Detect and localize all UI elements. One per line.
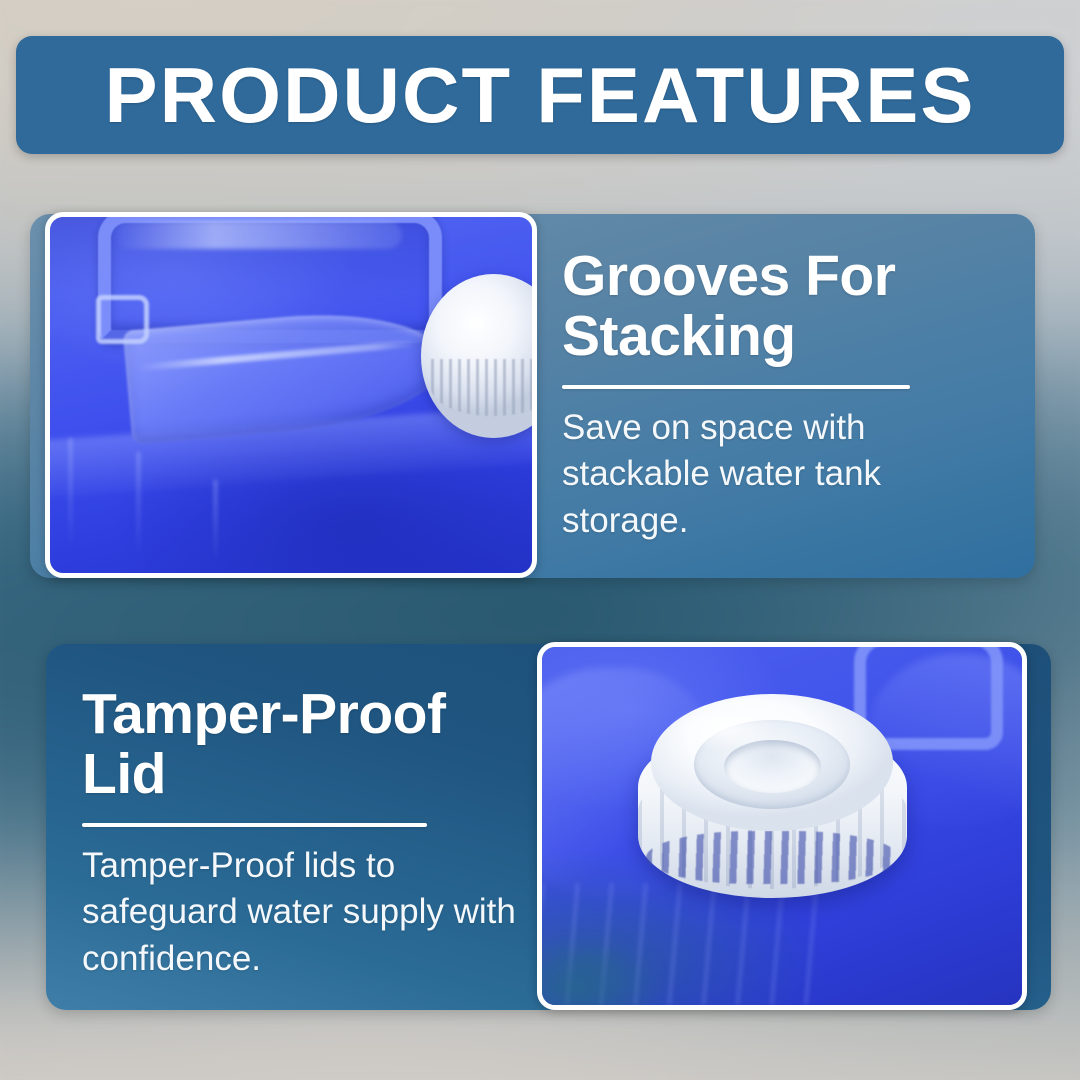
- feature-text-block-1: Grooves For Stacking Save on space with …: [562, 246, 1002, 544]
- feature-image-2-inner: [542, 647, 1022, 1005]
- tank-ridge-3: [214, 480, 217, 558]
- tank-teal-reflection: [542, 905, 724, 1005]
- cap-highlight: [670, 707, 778, 751]
- feature-title-2: Tamper-Proof Lid: [82, 684, 522, 805]
- tank-ridge-1: [69, 438, 72, 545]
- feature-title-1: Grooves For Stacking: [562, 246, 1002, 367]
- tamper-evident-ring: [646, 831, 899, 884]
- tank-tab: [96, 295, 149, 344]
- tank-ridge-2: [137, 452, 140, 552]
- feature-image-tamper-proof-lid: [537, 642, 1027, 1010]
- feature-description-2: Tamper-Proof lids to safeguard water sup…: [82, 843, 522, 983]
- page-title: PRODUCT FEATURES: [105, 56, 976, 134]
- header-banner: PRODUCT FEATURES: [16, 36, 1064, 154]
- feature-image-grooves-for-stacking: [45, 212, 537, 578]
- water-tank-handle-illustration: [50, 217, 532, 573]
- tamper-proof-cap: [638, 694, 907, 916]
- feature-text-block-2: Tamper-Proof Lid Tamper-Proof lids to sa…: [82, 684, 522, 982]
- tamper-proof-cap-illustration: [542, 647, 1022, 1005]
- feature-image-1-inner: [50, 217, 532, 573]
- title-divider-1: [562, 385, 910, 389]
- infographic-page: PRODUCT FEATURES Grooves For Stacking Sa…: [0, 0, 1080, 1080]
- tank-handle-highlight: [113, 221, 402, 249]
- title-divider-2: [82, 823, 427, 827]
- feature-description-1: Save on space with stackable water tank …: [562, 405, 1002, 545]
